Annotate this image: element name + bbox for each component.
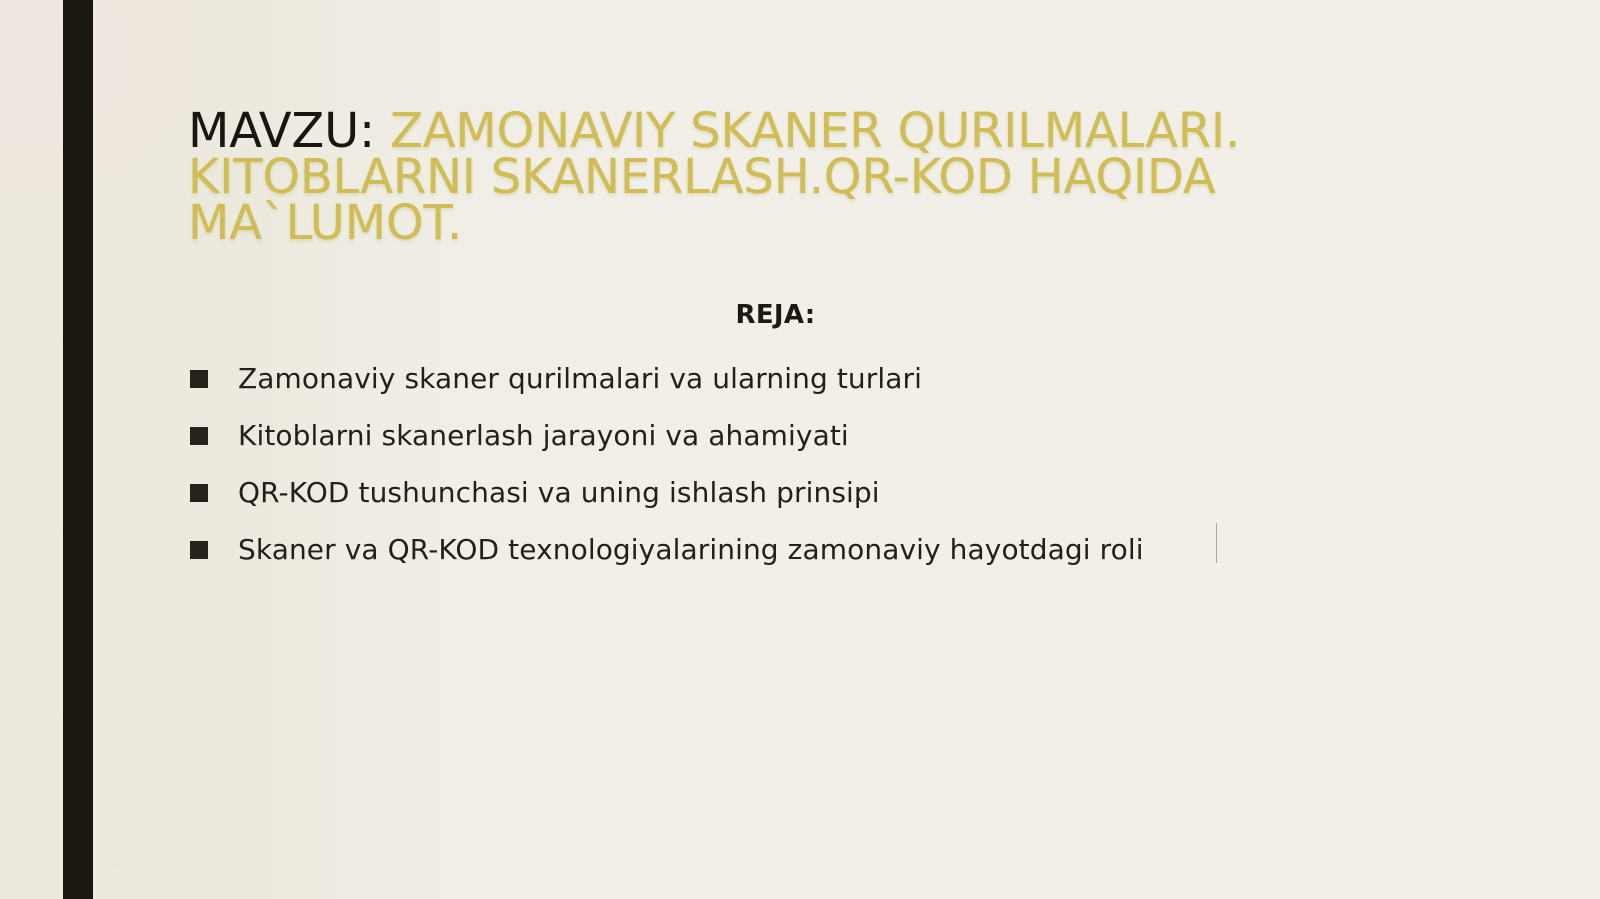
square-bullet-icon (190, 427, 208, 445)
presentation-slide: MAVZU: ZAMONAVIY SKANER QURILMALARI. KIT… (0, 0, 1600, 899)
list-item: Skaner va QR-KOD texnologiyalarining zam… (188, 521, 1363, 578)
square-bullet-icon (190, 541, 208, 559)
list-item-label: Kitoblarni skanerlash jarayoni va ahamiy… (238, 419, 849, 453)
text-caret (1216, 523, 1217, 563)
slide-content: MAVZU: ZAMONAVIY SKANER QURILMALARI. KIT… (188, 0, 1368, 899)
list-item-label: QR-KOD tushunchasi va uning ishlash prin… (238, 476, 880, 510)
slide-title: MAVZU: ZAMONAVIY SKANER QURILMALARI. KIT… (188, 108, 1363, 246)
section-heading: REJA: (188, 300, 1363, 330)
square-bullet-icon (190, 484, 208, 502)
list-item: Kitoblarni skanerlash jarayoni va ahamiy… (188, 407, 1363, 464)
left-accent-bar (63, 0, 93, 899)
square-bullet-icon (190, 370, 208, 388)
list-item: Zamonaviy skaner qurilmalari va ularning… (188, 350, 1363, 407)
list-item: QR-KOD tushunchasi va uning ishlash prin… (188, 464, 1363, 521)
agenda-list: Zamonaviy skaner qurilmalari va ularning… (188, 350, 1363, 578)
list-item-label: Zamonaviy skaner qurilmalari va ularning… (238, 362, 922, 396)
list-item-label: Skaner va QR-KOD texnologiyalarining zam… (238, 533, 1144, 567)
